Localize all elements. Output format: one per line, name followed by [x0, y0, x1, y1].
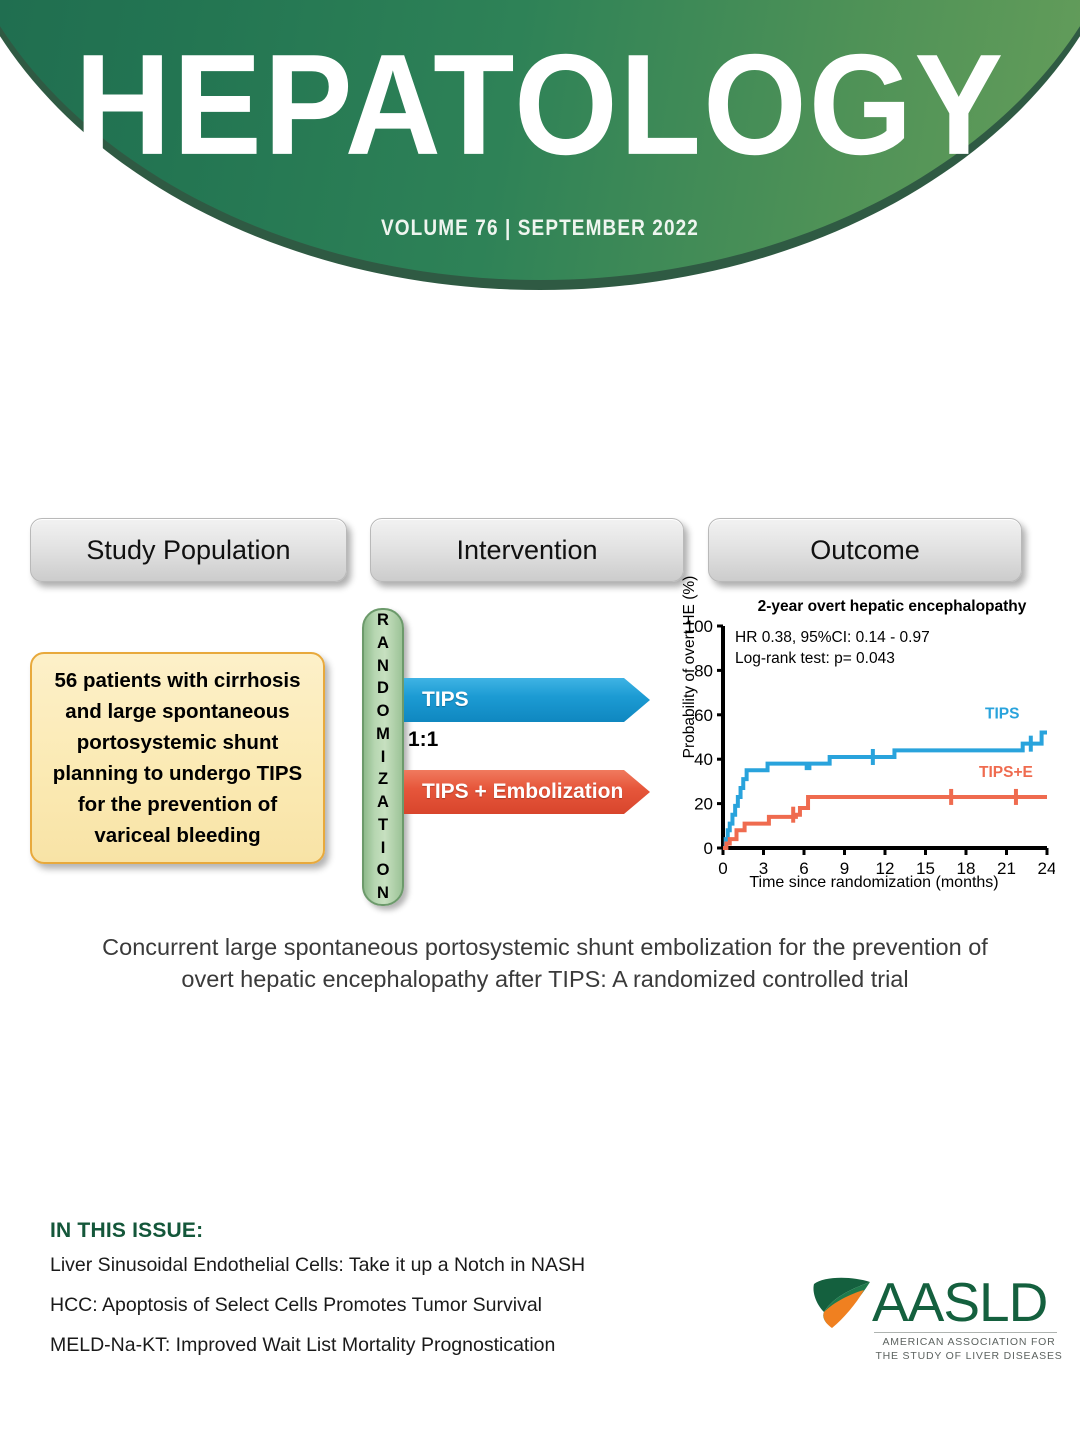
aasld-tagline-line1: AMERICAN ASSOCIATION FOR [874, 1336, 1064, 1350]
chart-x-tick-label: 12 [876, 859, 895, 878]
randomization-letter: N [377, 655, 389, 678]
section-header-label: Study Population [86, 535, 290, 566]
in-this-issue-item[interactable]: MELD-Na-KT: Improved Wait List Mortality… [50, 1333, 630, 1358]
aasld-logo: AASLD AMERICAN ASSOCIATION FOR THE STUDY… [810, 1272, 1060, 1372]
randomization-letter: I [381, 837, 386, 860]
chart-x-tick-label: 15 [916, 859, 935, 878]
chart-y-tick-label: 0 [704, 839, 713, 858]
aasld-wordmark: AASLD [872, 1270, 1047, 1334]
volume-issue-line: VOLUME 76 | SEPTEMBER 2022 [0, 216, 1080, 242]
randomization-letter: A [377, 632, 389, 655]
randomization-letter: N [377, 882, 389, 905]
randomization-letter: T [378, 814, 388, 837]
chart-x-tick-label: 18 [957, 859, 976, 878]
chart-series-label-tips-e: TIPS+E [979, 764, 1033, 781]
in-this-issue-heading: IN THIS ISSUE: [50, 1219, 203, 1243]
randomization-bar: RANDOMIZATION [362, 608, 404, 906]
randomization-letter: O [377, 700, 390, 723]
journal-title: HEPATOLOGY [0, 34, 1080, 177]
arm-arrow-tips: TIPS [404, 678, 650, 722]
aasld-divider [874, 1332, 1057, 1333]
chart-y-tick-label: 40 [694, 750, 713, 769]
randomization-letter: R [377, 609, 389, 632]
chart-x-tick-label: 6 [799, 859, 808, 878]
chart-y-tick-label: 20 [694, 795, 713, 814]
outcome-chart: 2-year overt hepatic encephalopathy HR 0… [655, 598, 1055, 903]
randomization-letter: Z [378, 768, 388, 791]
aasld-tagline-line2: THE STUDY OF LIVER DISEASES [874, 1350, 1064, 1364]
randomization-letter: M [376, 723, 390, 746]
study-population-box: 56 patients with cirrhosis and large spo… [30, 652, 325, 864]
chart-y-tick-label: 100 [685, 617, 713, 636]
chart-series-tips-e [723, 797, 1047, 848]
chart-x-tick-label: 0 [718, 859, 727, 878]
in-this-issue-list: Liver Sinusoidal Endothelial Cells: Take… [50, 1253, 630, 1373]
chart-x-tick-label: 21 [997, 859, 1016, 878]
study-population-text: 56 patients with cirrhosis and large spo… [46, 665, 309, 852]
chart-plot-area: 02040608010003691215182124TIPSTIPS+E [655, 598, 1055, 898]
chart-series-tips [723, 733, 1047, 848]
randomization-ratio: 1:1 [408, 728, 438, 752]
randomization-letter: A [377, 791, 389, 814]
masthead-banner: HEPATOLOGY VOLUME 76 | SEPTEMBER 2022 [0, 0, 1080, 300]
arm-arrow-tips-embolization: TIPS + Embolization [404, 770, 650, 814]
chart-x-tick-label: 9 [840, 859, 849, 878]
chart-x-tick-label: 3 [759, 859, 768, 878]
chart-y-tick-label: 80 [694, 661, 713, 680]
chart-x-tick-label: 24 [1038, 859, 1055, 878]
randomization-letter: D [377, 677, 389, 700]
section-header-label: Outcome [810, 535, 920, 566]
aasld-tagline: AMERICAN ASSOCIATION FOR THE STUDY OF LI… [874, 1336, 1064, 1364]
randomization-letter: O [377, 859, 390, 882]
arm-label-tips-embolization: TIPS + Embolization [422, 780, 623, 804]
section-header-label: Intervention [456, 535, 597, 566]
in-this-issue-item[interactable]: HCC: Apoptosis of Select Cells Promotes … [50, 1293, 630, 1318]
section-header-study-population: Study Population [30, 518, 347, 582]
featured-article-title: Concurrent large spontaneous portosystem… [100, 932, 990, 996]
aasld-leaf-icon [810, 1274, 876, 1336]
arm-label-tips: TIPS [422, 688, 469, 712]
in-this-issue-item[interactable]: Liver Sinusoidal Endothelial Cells: Take… [50, 1253, 630, 1278]
chart-series-label-tips: TIPS [985, 706, 1019, 723]
section-header-outcome: Outcome [708, 518, 1022, 582]
chart-y-tick-label: 60 [694, 706, 713, 725]
section-header-intervention: Intervention [370, 518, 684, 582]
randomization-letter: I [381, 746, 386, 769]
